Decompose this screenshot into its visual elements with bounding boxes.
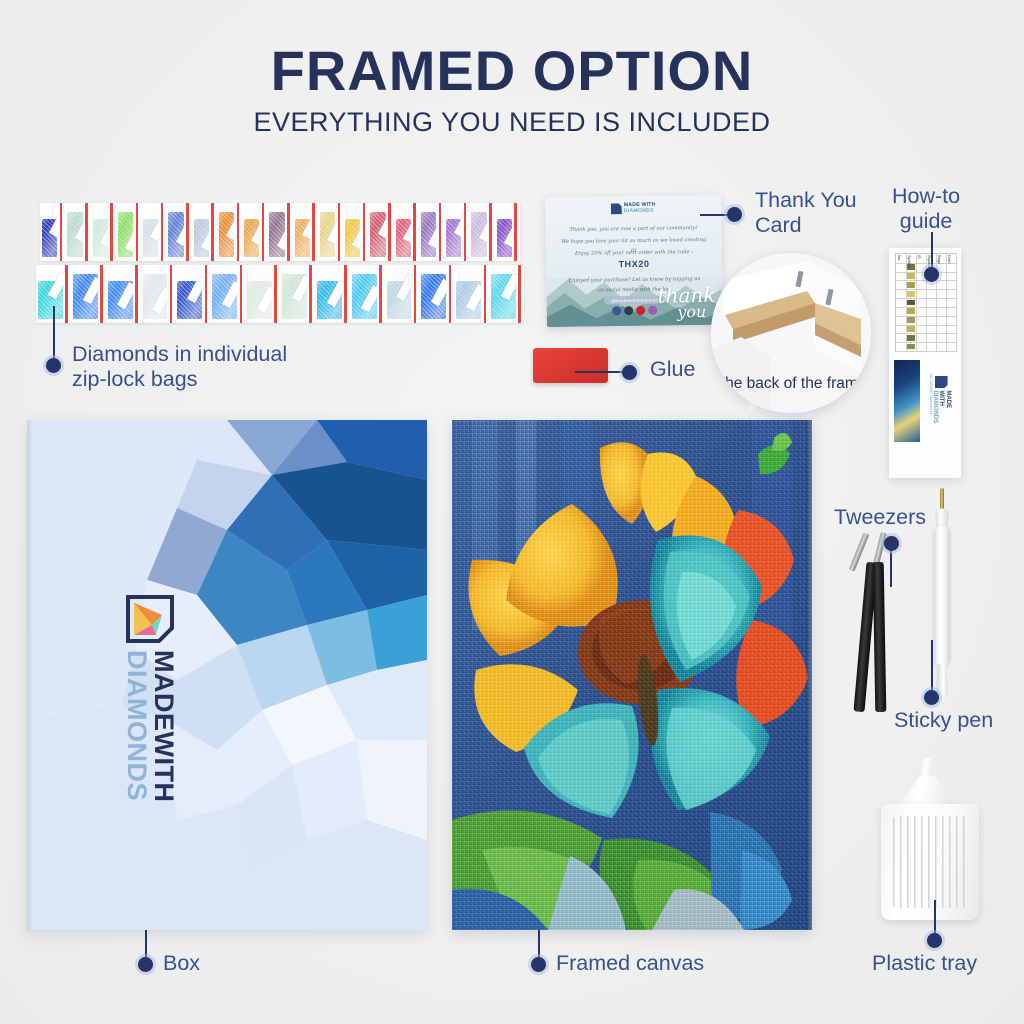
card-sign-off: thank you (658, 287, 716, 319)
bag-zip-seal (110, 203, 113, 261)
pinterest-icon (636, 306, 645, 315)
glue-pad (533, 348, 608, 383)
frame-bubble-text: The back of the frame (711, 374, 871, 393)
bag-zip-seal (514, 203, 517, 261)
diamond-bag (469, 203, 494, 261)
guide-preview-image (894, 360, 920, 442)
diamond-bags-row-bottom (36, 265, 524, 323)
thank-you-card: MADE WITH DIAMONDS Thank you, you are no… (545, 195, 723, 327)
guide-table-header: Symbol (907, 255, 912, 268)
bag-zip-seal (388, 203, 391, 261)
bag-zip-seal (309, 265, 312, 323)
card-logo-text: MADE WITH DIAMONDS (624, 203, 656, 215)
how-to-guide: No.SymbolIDSquare / KgBagsDMC MADE WITH … (889, 248, 961, 478)
diamond-bag (141, 203, 166, 261)
guide-color-swatch (907, 344, 915, 350)
bag-zip-seal (100, 265, 103, 323)
diamond-bag (293, 203, 318, 261)
diamond-bag (350, 265, 385, 323)
leader-glue (575, 371, 627, 373)
guide-color-swatch (907, 317, 915, 323)
callout-dot-diamonds[interactable] (46, 358, 61, 373)
diamond-bag (166, 203, 191, 261)
guide-color-swatch (907, 291, 915, 297)
diamond-bag (394, 203, 419, 261)
bag-zip-seal (186, 203, 189, 261)
card-social-icons (612, 306, 657, 316)
framed-canvas (452, 420, 812, 930)
guide-color-swatch (907, 273, 915, 279)
box-brand-logo: MADEWITH DIAMONDS (123, 595, 177, 802)
bag-zip-seal (489, 203, 492, 261)
bag-zip-seal (136, 203, 139, 261)
bag-zip-seal (413, 203, 416, 261)
card-logo: MADE WITH DIAMONDS (611, 203, 656, 215)
callout-label-tweezers: Tweezers (834, 505, 926, 530)
diamond-bag (419, 203, 444, 261)
bag-zip-seal (274, 265, 277, 323)
diamond-bag (65, 203, 90, 261)
bag-zip-seal (338, 203, 341, 261)
product-box: MADEWITH DIAMONDS (27, 420, 427, 930)
guide-table-header: Bags (937, 255, 942, 264)
bag-zip-seal (211, 203, 214, 261)
diamond-bag (245, 265, 280, 323)
diamond-bag (280, 265, 315, 323)
twitter-icon (624, 306, 633, 315)
guide-table-header: DMC (947, 255, 952, 264)
bag-zip-seal (65, 265, 68, 323)
bag-zip-seal (439, 203, 442, 261)
callout-dot-framed-canvas[interactable] (531, 957, 546, 972)
diamond-bag (343, 203, 368, 261)
diamond-bag (489, 265, 524, 323)
bag-zip-seal (262, 203, 265, 261)
guide-brand-logo: MADE WITH DIAMONDS (931, 376, 951, 424)
bag-zip-seal (484, 265, 487, 323)
card-message-line-1: Thank you, you are now a part of our com… (560, 224, 708, 236)
bag-zip-seal (240, 265, 243, 323)
callout-dot-box[interactable] (138, 957, 153, 972)
diamond-bag (40, 203, 65, 261)
diamond-bag (495, 203, 520, 261)
page-subtitle: EVERYTHING YOU NEED IS INCLUDED (0, 107, 1024, 138)
bag-zip-seal (379, 265, 382, 323)
brand-diamond-icon (935, 376, 948, 388)
bag-zip-seal (312, 203, 315, 261)
canvas-sparkle-overlay (452, 420, 812, 930)
leader-plastic-tray (934, 900, 936, 936)
bag-zip-seal (85, 203, 88, 261)
bag-zip-seal (363, 203, 366, 261)
guide-color-swatch (907, 308, 915, 314)
bag-zip-seal (205, 265, 208, 323)
guide-table-row (896, 342, 956, 352)
bag-zip-seal (449, 265, 452, 323)
bag-zip-seal (161, 203, 164, 261)
guide-table-header: ID (917, 255, 922, 259)
diamond-bag (444, 203, 469, 261)
diamond-bag (91, 203, 116, 261)
bag-zip-seal (414, 265, 417, 323)
diamond-bag (267, 203, 292, 261)
bag-zip-seal (518, 265, 521, 323)
box-left-edge (27, 420, 34, 930)
tray-ribs (893, 816, 967, 908)
diamond-bag (192, 203, 217, 261)
diamond-bag (106, 265, 141, 323)
diamond-bag (419, 265, 454, 323)
guide-color-swatch (907, 326, 915, 332)
leader-diamonds (53, 306, 55, 361)
brand-diamond-icon (126, 595, 174, 643)
diamond-bags-row-top (40, 203, 520, 261)
bag-zip-seal (287, 203, 290, 261)
callout-dot-how-to[interactable] (924, 267, 939, 282)
sticky-pen (930, 488, 956, 703)
diamond-bag (71, 265, 106, 323)
pen-body (934, 526, 950, 666)
leader-sticky-pen (931, 640, 933, 692)
diamond-bag (210, 265, 245, 323)
guide-color-swatch (907, 300, 915, 306)
instagram-icon (648, 306, 657, 315)
box-lowpoly-pattern (27, 420, 427, 930)
diamond-bag (385, 265, 420, 323)
diamond-bag (175, 265, 210, 323)
poster-root: FRAMED OPTION EVERYTHING YOU NEED IS INC… (0, 0, 1024, 1024)
callout-dot-tweezers[interactable] (884, 536, 899, 551)
bag-zip-seal (135, 265, 138, 323)
diamond-bag (315, 265, 350, 323)
bag-zip-seal (464, 203, 467, 261)
bag-zip-seal (60, 203, 63, 261)
pen-gold-tip (940, 488, 944, 510)
diamond-bag (454, 265, 489, 323)
callout-label-how-to: How-to guide (892, 184, 960, 235)
bag-zip-seal (237, 203, 240, 261)
callout-dot-glue[interactable] (622, 365, 637, 380)
diamond-bag (116, 203, 141, 261)
callout-label-framed-canvas: Framed canvas (556, 951, 704, 976)
leader-tweezers (890, 545, 892, 587)
tweezers (846, 528, 906, 718)
diamond-bag (242, 203, 267, 261)
guide-table-header: No. (897, 255, 902, 261)
canvas-frame-edge (806, 420, 812, 930)
page-title: FRAMED OPTION (0, 38, 1024, 103)
bag-zip-seal (344, 265, 347, 323)
callout-label-diamonds: Diamonds in individual zip-lock bags (72, 342, 287, 393)
callout-label-sticky-pen: Sticky pen (894, 708, 993, 733)
callout-label-plastic-tray: Plastic tray (872, 951, 977, 976)
callout-label-box: Box (163, 951, 200, 976)
diamond-bag (318, 203, 343, 261)
diamond-bag (368, 203, 393, 261)
callout-dot-plastic-tray[interactable] (927, 933, 942, 948)
callout-label-glue: Glue (650, 357, 695, 382)
callout-label-thank-you: Thank You Card (755, 188, 857, 239)
card-social-handle: @madewithdiamonds (604, 296, 665, 305)
guide-subtitle: No. 1234567 Diamond Kit (929, 374, 933, 415)
brand-diamond-icon (611, 203, 622, 214)
pen-nose-cone (935, 508, 949, 528)
callout-dot-thank-you[interactable] (727, 207, 742, 222)
guide-color-swatch (907, 335, 915, 341)
facebook-icon (612, 306, 621, 315)
box-brand-text: MADEWITH DIAMONDS (123, 650, 177, 802)
tweezers-arm-right (873, 562, 887, 712)
plastic-tray (875, 758, 985, 928)
callout-dot-sticky-pen[interactable] (924, 690, 939, 705)
bag-zip-seal (170, 265, 173, 323)
guide-color-swatch (907, 282, 915, 288)
guide-brand-text: MADE WITH DIAMONDS (931, 390, 951, 423)
diamond-bag (141, 265, 176, 323)
frame-back-bubble: The back of the frame (711, 253, 871, 413)
diamond-bag (217, 203, 242, 261)
